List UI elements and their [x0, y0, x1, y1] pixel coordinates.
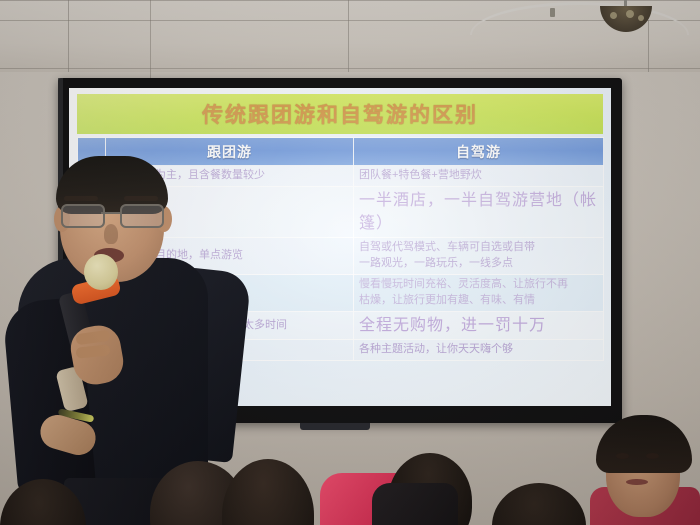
cell-self-drive: 各种主题活动，让你天天嗨个够 — [354, 340, 604, 361]
audience-jacket-dark — [372, 483, 458, 525]
cell-self-drive: 自驾或代驾模式、车辆可自选或自带 一路观光，一路玩乐，一线多点 — [354, 238, 604, 275]
cell-self-drive: 一半酒店，一半自驾游营地（帐篷） — [354, 186, 604, 237]
microphone-head — [84, 254, 118, 290]
audience-head — [222, 459, 314, 525]
audience-eye — [616, 453, 629, 459]
cell-self-drive: 团队餐+特色餐+营地野炊 — [354, 166, 604, 187]
audience-eye — [646, 453, 659, 459]
presenter-nose — [104, 224, 118, 244]
audience-foreground — [0, 405, 700, 525]
pipe-clip-icon — [550, 8, 555, 17]
audience-mouth — [626, 479, 648, 485]
presenter-eyebrow-right — [124, 196, 158, 201]
slide-title: 传统跟团游和自驾游的区别 — [77, 94, 603, 134]
cell-self-drive: 慢看慢玩时间充裕、灵活度高、让旅行不再 枯燥，让旅行更加有趣、有味、有情 — [354, 275, 604, 312]
presenter-eyebrow-left — [64, 196, 98, 201]
cell-self-drive: 全程无购物，进一罚十万 — [354, 312, 604, 340]
photo-scene: 传统跟团游和自驾游的区别 跟团游 自驾游 吃 以团队餐为主，且含餐数量较少 团队… — [0, 0, 700, 525]
glasses-icon — [60, 204, 164, 226]
audience-head — [0, 479, 86, 525]
header-self-drive: 自驾游 — [354, 138, 604, 166]
audience-head — [492, 483, 586, 525]
audience-hair — [596, 415, 692, 473]
